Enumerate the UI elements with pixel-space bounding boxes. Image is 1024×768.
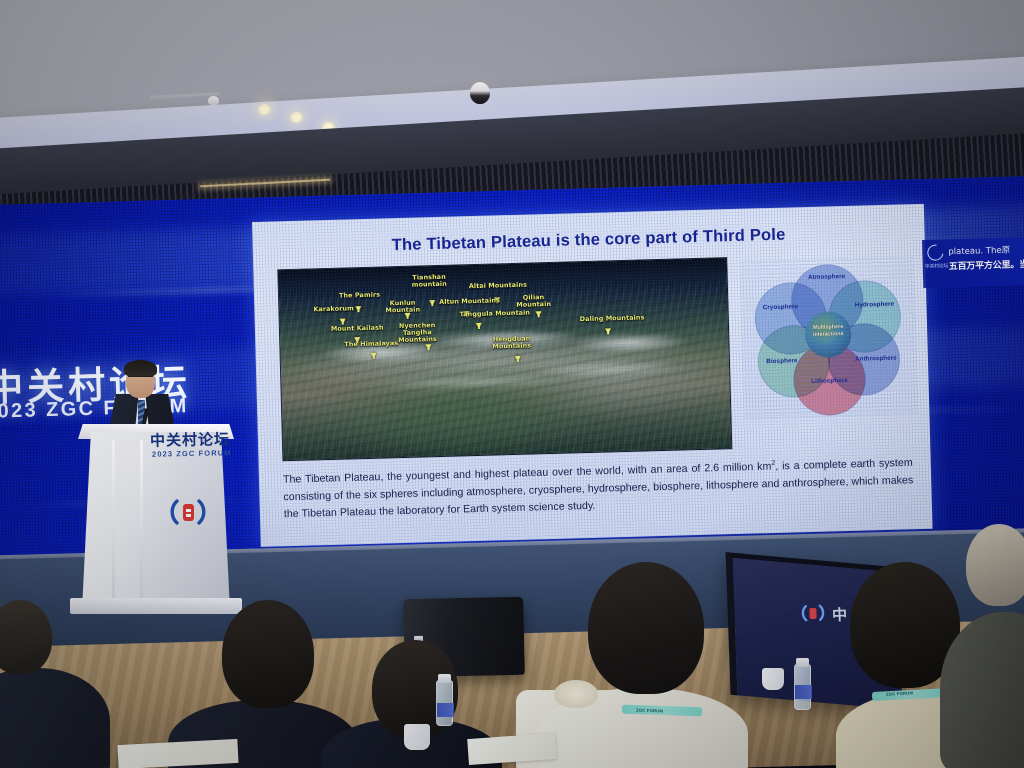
venn-circle-lithosphere — [793, 342, 867, 416]
map-label: KunlunMountain — [385, 299, 420, 314]
map-pointer-arrow-icon — [355, 306, 361, 312]
podium-label-en: 2023 ZGC FORUM — [152, 448, 232, 458]
monitor-label-cn: 中 — [832, 604, 848, 626]
slide-title: The Tibetan Plateau is the core part of … — [252, 222, 924, 259]
slide-body-text: The Tibetan Plateau, the youngest and hi… — [283, 454, 914, 523]
documents — [117, 739, 238, 768]
map-label: The Pamirs — [339, 292, 380, 300]
audience-member-head — [588, 562, 704, 694]
subtitle-logo-caption: 中关村论坛 — [925, 262, 949, 270]
bottle-cap — [796, 658, 809, 667]
map-pointer-arrow-icon — [515, 356, 521, 362]
map-label: Mount Kailash — [331, 324, 384, 333]
venn-label-hydrosphere: Hydrosphere — [848, 300, 900, 308]
venn-circle-biosphere — [757, 324, 831, 398]
venn-circle-anthrosphere — [827, 323, 901, 397]
conference-hall-photo: 中关村论坛 2023 ZGC FORUM The Tibetan Plateau… — [0, 0, 1024, 768]
paper-cup — [404, 724, 430, 750]
water-bottle — [794, 664, 811, 710]
zgc-forum-logo-icon — [168, 492, 208, 532]
venn-circle-atmosphere — [790, 264, 864, 338]
lanyard-text: ZGC FORUM — [636, 708, 663, 714]
map-pointer-arrow-icon — [605, 328, 611, 334]
security-camera-icon — [470, 82, 490, 104]
map-label: Altun Mountains — [439, 297, 500, 306]
audience-member-head — [966, 524, 1024, 606]
venn-label-anthrosphere: Anthrosphere — [850, 354, 902, 362]
monitor-logo-icon — [800, 600, 827, 627]
forum-logo-icon — [924, 241, 946, 263]
map-label: HengduanMountains — [492, 335, 531, 350]
speaker-hair — [124, 360, 157, 377]
map-label: Daling Mountains — [580, 314, 645, 323]
ceiling-downlight — [258, 104, 271, 115]
presentation-slide: The Tibetan Plateau is the core part of … — [252, 204, 933, 547]
map-label: QilianMountain — [516, 294, 551, 309]
map-pointer-arrow-icon — [405, 313, 411, 319]
venn-center-globe — [805, 311, 852, 358]
smoke-detector-icon — [208, 96, 219, 105]
podium-base — [70, 598, 242, 614]
venn-label-cryosphere: Cryosphere — [754, 303, 806, 311]
map-pointer-arrow-icon — [425, 344, 431, 350]
map-label: NyenchenTanglhaMountains — [398, 322, 437, 345]
podium-groove — [112, 440, 115, 600]
venn-circle-cryosphere — [754, 282, 828, 356]
water-bottle — [436, 680, 453, 726]
subtitle-line-2: 五百万平方公里。当然。第三 — [949, 256, 1024, 272]
podium-groove — [140, 440, 143, 600]
map-pointer-arrow-icon — [476, 323, 482, 329]
map-label: The Himalayas — [344, 340, 398, 349]
map-label: Karakorum — [313, 305, 354, 313]
map-label: Tianshanmountain — [411, 274, 446, 289]
six-spheres-venn-diagram: Multisphereinteractions AtmosphereCryosp… — [739, 254, 918, 419]
map-pointer-arrow-icon — [429, 300, 435, 306]
decorative-ribbon — [554, 680, 598, 708]
venn-label-atmosphere: Atmosphere — [801, 273, 853, 281]
tibetan-plateau-satellite-image: The PamirsTianshanmountainAltai Mountain… — [277, 257, 732, 461]
venn-center-label: Multisphereinteractions — [791, 323, 865, 338]
map-pointer-arrow-icon — [536, 311, 542, 317]
subtitle-overlay-panel: 中关村论坛 plateau. The原 五百万平方公里。当然。第三 — [922, 237, 1024, 288]
venn-label-biosphere: Biosphere — [756, 357, 808, 365]
venn-label-lithosphere: Lithosphere — [803, 377, 855, 385]
paper-cup — [762, 668, 784, 690]
podium-label-cn: 中关村论坛 — [150, 428, 230, 450]
bottle-cap — [438, 674, 451, 683]
venn-circle-hydrosphere — [828, 279, 902, 353]
speaker-glasses — [128, 376, 153, 382]
ceiling-downlight — [290, 112, 303, 123]
subtitle-line-1: plateau. The原 — [948, 244, 1010, 258]
audience-member-head — [222, 600, 314, 708]
map-label: Tanggula Mountain — [459, 310, 530, 319]
map-pointer-arrow-icon — [371, 353, 377, 359]
